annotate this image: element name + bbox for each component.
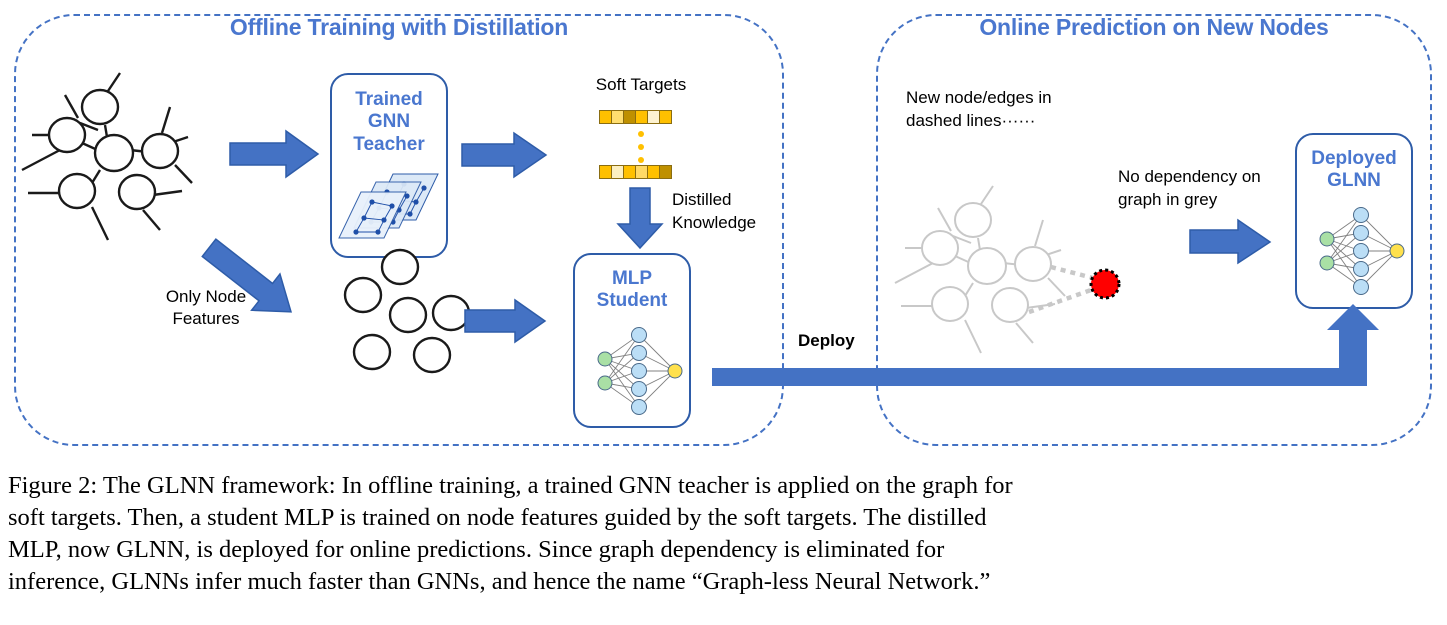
soft-target-bar-bottom [599,165,672,179]
no-dependency-line2: graph in grey [1118,189,1217,210]
deployed-glnn-line1: Deployed [1297,148,1411,170]
no-dependency-line1: No dependency on [1118,166,1261,187]
panel-offline-title: Offline Training with Distillation [14,14,784,41]
deployed-mlp-network-icon [1303,207,1409,299]
caption-line-4: inference, GLNNs infer much faster than … [8,566,1440,598]
caption-line-2: soft targets. Then, a student MLP is tra… [8,502,1440,534]
arrow-distilled-knowledge [618,188,670,250]
soft-target-bar-top [599,110,672,124]
only-node-label: Only Node [146,286,266,307]
arrow-graph-to-teacher [230,125,330,185]
mlp-student-line2: Student [575,290,689,312]
figure-caption: Figure 2: The GLNN framework: In offline… [8,470,1440,597]
new-nodes-note-line2: dashed lines······ [906,110,1035,131]
block-gnn-teacher[interactable]: Trained GNN Teacher [330,73,448,258]
features-label: Features [146,308,266,329]
soft-targets-label: Soft Targets [566,74,716,95]
gnn-layers-icon [338,170,448,250]
arrow-teacher-to-soft-targets [462,128,557,184]
distilled-label: Distilled [672,189,732,210]
mlp-student-line1: MLP [575,268,689,290]
figure-diagram: Offline Training with Distillation [0,0,1447,460]
block-mlp-student[interactable]: MLP Student [573,253,691,428]
panel-online-title: Online Prediction on New Nodes [876,14,1432,41]
gnn-teacher-line1: Trained [332,89,446,111]
new-node-red-icon [1091,270,1119,298]
caption-line-3: MLP, now GLNN, is deployed for online pr… [8,534,1440,566]
arrow-features-to-mlp [465,296,557,348]
deployed-glnn-line2: GLNN [1297,170,1411,192]
block-deployed-glnn[interactable]: Deployed GLNN [1295,133,1413,309]
mlp-network-icon [581,327,687,419]
knowledge-label: Knowledge [672,212,756,233]
deploy-label: Deploy [798,330,855,351]
caption-line-1: Figure 2: The GLNN framework: In offline… [8,470,1440,502]
arrow-to-deployed-glnn [1190,218,1280,268]
gnn-teacher-line3: Teacher [332,134,446,156]
gnn-teacher-line2: GNN [332,111,446,133]
new-nodes-note-line1: New node/edges in [906,87,1052,108]
soft-target-ellipsis [638,131,644,163]
isolated-nodes-group [320,245,480,395]
